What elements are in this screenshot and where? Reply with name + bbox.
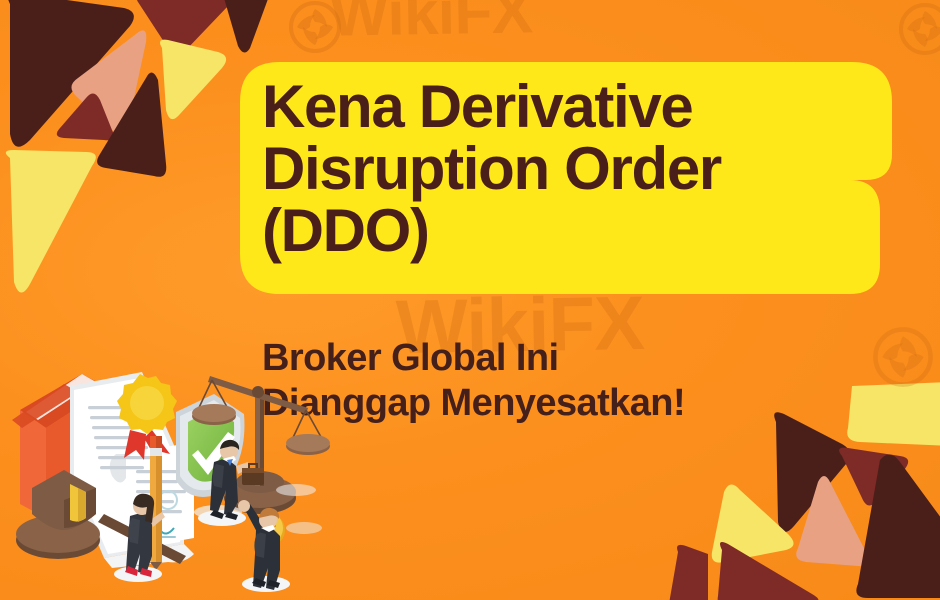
page-subtitle: Broker Global Ini Dianggap Menyesatkan! [262, 336, 902, 426]
legal-illustration [8, 358, 338, 600]
headline-line-2: Disruption Order [262, 138, 882, 200]
tri-yellow-2 [6, 150, 96, 293]
tri-yellow-1 [160, 40, 226, 119]
tri-bl-maroon-sm [670, 545, 709, 600]
page-title: Kena Derivative Disruption Order (DDO) [262, 76, 882, 261]
headline-line-1: Kena Derivative [262, 76, 882, 138]
businessman-waving [238, 500, 290, 592]
article-banner: WikiFX WikiFX [0, 0, 940, 600]
waving-hand [238, 500, 250, 512]
subhead-line-2: Dianggap Menyesatkan! [262, 381, 902, 426]
tri-top-dark2 [223, 0, 272, 53]
subhead-line-1: Broker Global Ini [262, 336, 902, 381]
headline-line-3: (DDO) [262, 200, 882, 262]
scale-pan-right [286, 410, 330, 455]
